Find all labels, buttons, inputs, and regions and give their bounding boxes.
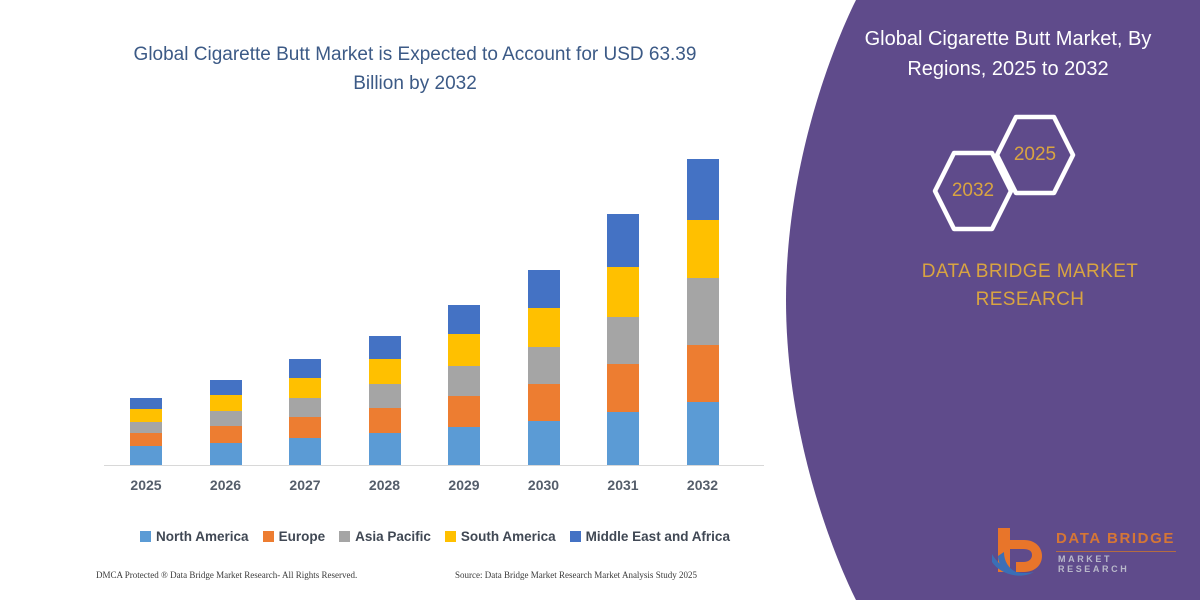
bar-2030 [528,0,560,465]
legend-item-middle-east-and-africa[interactable]: Middle East and Africa [570,529,730,544]
chart-legend: North AmericaEuropeAsia PacificSouth Ame… [100,529,770,544]
bar-2028 [369,0,401,465]
bar-2025 [130,0,162,465]
bar-segment-europe-2026 [210,426,242,443]
bar-segment-south-america-2028 [369,359,401,384]
hexagon-2025: 2025 [992,112,1078,198]
bar-segment-europe-2032 [687,345,719,402]
bridge-b-icon [990,524,1052,578]
bar-segment-asia-pacific-2025 [130,422,162,433]
bar-segment-middle-east-and-africa-2032 [687,159,719,219]
x-axis-label-2025: 2025 [116,477,176,493]
legend-swatch-icon [263,531,274,542]
hexagon-2025-label: 2025 [992,144,1078,166]
legend-item-asia-pacific[interactable]: Asia Pacific [339,529,431,544]
bar-2031 [607,0,639,465]
bar-segment-middle-east-and-africa-2030 [528,270,560,307]
x-axis-label-2032: 2032 [673,477,733,493]
bar-segment-middle-east-and-africa-2029 [448,305,480,335]
bar-segment-asia-pacific-2032 [687,278,719,345]
bar-segment-asia-pacific-2027 [289,398,321,417]
legend-label: Europe [279,529,326,544]
logo-secondary-text: MARKET RESEARCH [1058,554,1185,574]
legend-label: Asia Pacific [355,529,431,544]
bar-segment-north-america-2027 [289,438,321,465]
panel-title: Global Cigarette Butt Market, By Regions… [838,24,1178,84]
bar-2032 [687,0,719,465]
bar-segment-asia-pacific-2028 [369,384,401,408]
bar-segment-europe-2025 [130,433,162,446]
bar-segment-north-america-2032 [687,402,719,465]
footer-source: Source: Data Bridge Market Research Mark… [455,570,697,580]
bar-segment-middle-east-and-africa-2025 [130,398,162,409]
bar-2029 [448,0,480,465]
bar-segment-north-america-2028 [369,433,401,465]
bar-segment-europe-2027 [289,417,321,438]
bar-2027 [289,0,321,465]
bar-segment-middle-east-and-africa-2027 [289,359,321,378]
bar-segment-south-america-2025 [130,409,162,421]
footer-copyright: DMCA Protected ® Data Bridge Market Rese… [96,570,357,580]
bar-segment-asia-pacific-2030 [528,347,560,384]
bar-segment-south-america-2026 [210,395,242,411]
bar-segment-europe-2030 [528,384,560,421]
logo-divider [1056,551,1176,552]
bar-segment-south-america-2029 [448,334,480,366]
bar-segment-north-america-2030 [528,421,560,465]
legend-item-north-america[interactable]: North America [140,529,249,544]
legend-swatch-icon [570,531,581,542]
infographic-root: Global Cigarette Butt Market, By Regions… [0,0,1200,600]
bar-segment-south-america-2027 [289,378,321,398]
bar-segment-north-america-2026 [210,443,242,465]
legend-label: North America [156,529,249,544]
legend-swatch-icon [445,531,456,542]
bar-segment-north-america-2025 [130,446,162,465]
x-axis-label-2031: 2031 [593,477,653,493]
legend-label: South America [461,529,556,544]
legend-swatch-icon [339,531,350,542]
bar-2026 [210,0,242,465]
bar-segment-asia-pacific-2029 [448,366,480,396]
bar-segment-asia-pacific-2031 [607,317,639,364]
bar-segment-south-america-2030 [528,308,560,347]
x-axis-label-2030: 2030 [514,477,574,493]
bar-segment-north-america-2029 [448,427,480,465]
legend-label: Middle East and Africa [586,529,730,544]
x-axis-label-2026: 2026 [196,477,256,493]
hexagon-group: 2032 2025 [930,112,1110,234]
x-axis-label-2028: 2028 [355,477,415,493]
bridge-b-icon-shape [990,524,1052,578]
legend-swatch-icon [140,531,151,542]
logo-primary-text: DATA BRIDGE [1056,530,1175,547]
company-logo: DATA BRIDGE MARKET RESEARCH [990,520,1185,582]
bar-segment-middle-east-and-africa-2031 [607,214,639,268]
x-axis-label-2027: 2027 [275,477,335,493]
bar-segment-europe-2029 [448,396,480,427]
x-axis-label-2029: 2029 [434,477,494,493]
bar-segment-middle-east-and-africa-2026 [210,380,242,395]
legend-item-south-america[interactable]: South America [445,529,556,544]
bar-segment-asia-pacific-2026 [210,411,242,426]
x-axis-line [104,465,764,466]
bar-segment-south-america-2031 [607,267,639,317]
brand-name: DATA BRIDGE MARKET RESEARCH [880,258,1180,314]
bar-segment-europe-2028 [369,408,401,433]
chart-plot-area [0,0,760,465]
bar-segment-europe-2031 [607,364,639,412]
bar-segment-south-america-2032 [687,220,719,278]
bar-segment-middle-east-and-africa-2028 [369,336,401,359]
bar-segment-north-america-2031 [607,412,639,465]
legend-item-europe[interactable]: Europe [263,529,326,544]
